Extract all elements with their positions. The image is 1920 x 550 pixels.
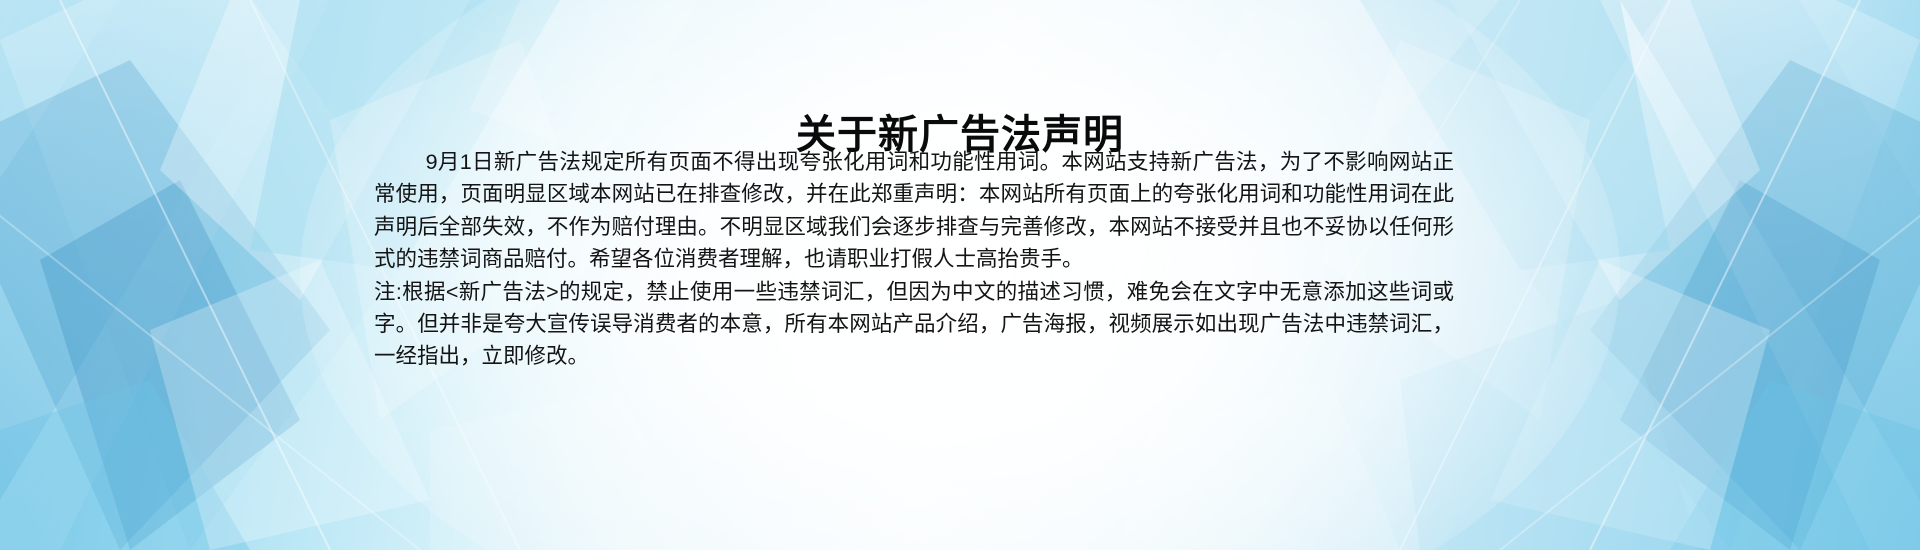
statement-paragraph-2: 注:根据<新广告法>的规定，禁止使用一些违禁词汇，但因为中文的描述习惯，难免会在… (374, 276, 1454, 373)
advertising-law-statement-banner: 关于新广告法声明 9月1日新广告法规定所有页面不得出现夸张化用词和功能性用词。本… (0, 0, 1920, 550)
statement-body: 9月1日新广告法规定所有页面不得出现夸张化用词和功能性用词。本网站支持新广告法，… (374, 146, 1454, 373)
statement-paragraph-1: 9月1日新广告法规定所有页面不得出现夸张化用词和功能性用词。本网站支持新广告法，… (374, 146, 1454, 276)
statement-content: 关于新广告法声明 9月1日新广告法规定所有页面不得出现夸张化用词和功能性用词。本… (0, 0, 1920, 550)
